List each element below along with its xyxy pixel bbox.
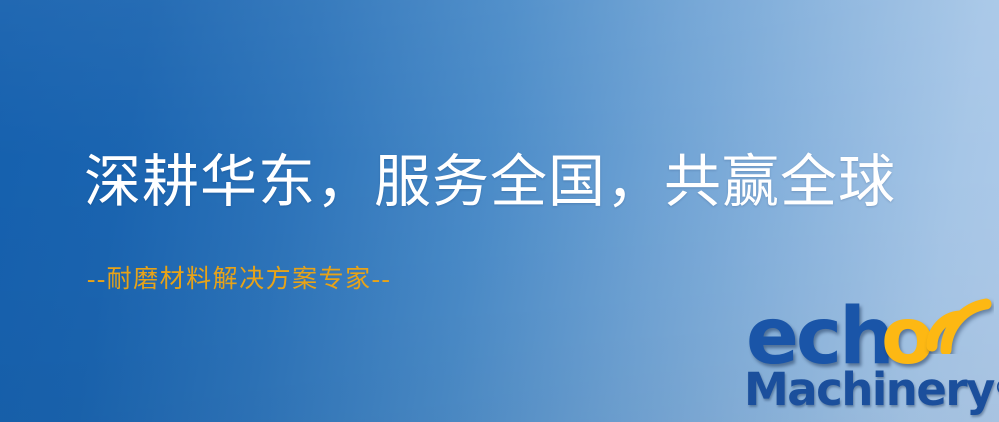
banner-headline: 深耕华东，服务全国，共赢全球 <box>84 152 896 214</box>
company-logo[interactable]: ech o Machinery® <box>744 302 999 422</box>
signal-waves-icon <box>920 292 994 354</box>
logo-tagline: Machinery® <box>744 364 999 415</box>
registered-trademark-icon: ® <box>994 376 999 401</box>
hero-banner: 深耕华东，服务全国，共赢全球 --耐磨材料解决方案专家-- ech o Mach… <box>0 0 999 422</box>
logo-tagline-text: Machinery <box>744 363 994 416</box>
banner-subtitle: --耐磨材料解决方案专家-- <box>87 265 391 295</box>
